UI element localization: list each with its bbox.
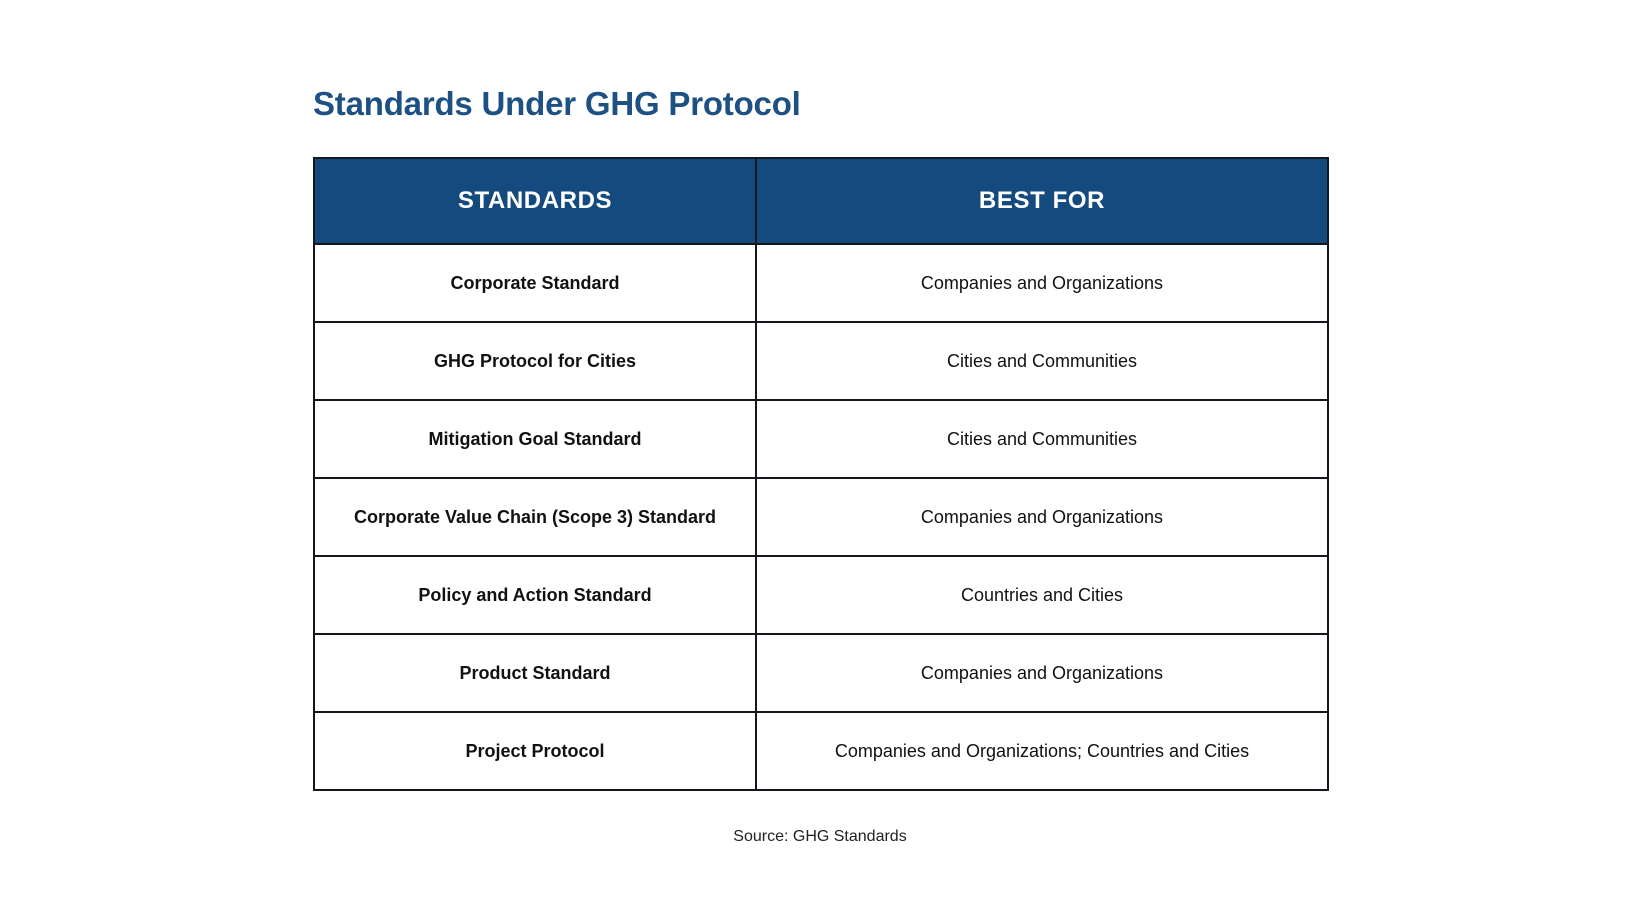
column-header-best-for: BEST FOR <box>756 158 1328 244</box>
cell-best-for: Cities and Communities <box>756 322 1328 400</box>
cell-standard: Corporate Standard <box>314 244 756 322</box>
cell-standard: Corporate Value Chain (Scope 3) Standard <box>314 478 756 556</box>
column-header-standards: STANDARDS <box>314 158 756 244</box>
table-row: Project ProtocolCompanies and Organizati… <box>314 712 1328 790</box>
cell-standard: Mitigation Goal Standard <box>314 400 756 478</box>
table-row: GHG Protocol for CitiesCities and Commun… <box>314 322 1328 400</box>
standards-table: STANDARDS BEST FOR Corporate StandardCom… <box>313 157 1329 791</box>
standards-table-container: STANDARDS BEST FOR Corporate StandardCom… <box>313 157 1327 791</box>
cell-best-for: Companies and Organizations <box>756 244 1328 322</box>
table-row: Mitigation Goal StandardCities and Commu… <box>314 400 1328 478</box>
source-note: Source: GHG Standards <box>313 828 1327 846</box>
table-row: Policy and Action StandardCountries and … <box>314 556 1328 634</box>
table-row: Corporate StandardCompanies and Organiza… <box>314 244 1328 322</box>
cell-best-for: Cities and Communities <box>756 400 1328 478</box>
cell-best-for: Companies and Organizations; Countries a… <box>756 712 1328 790</box>
table-row: Corporate Value Chain (Scope 3) Standard… <box>314 478 1328 556</box>
cell-best-for: Companies and Organizations <box>756 478 1328 556</box>
cell-standard: Project Protocol <box>314 712 756 790</box>
table-header: STANDARDS BEST FOR <box>314 158 1328 244</box>
cell-best-for: Companies and Organizations <box>756 634 1328 712</box>
table-header-row: STANDARDS BEST FOR <box>314 158 1328 244</box>
table-body: Corporate StandardCompanies and Organiza… <box>314 244 1328 790</box>
page-title: Standards Under GHG Protocol <box>313 85 801 123</box>
cell-standard: GHG Protocol for Cities <box>314 322 756 400</box>
cell-standard: Policy and Action Standard <box>314 556 756 634</box>
cell-standard: Product Standard <box>314 634 756 712</box>
table-row: Product StandardCompanies and Organizati… <box>314 634 1328 712</box>
page-root: Standards Under GHG Protocol STANDARDS B… <box>0 0 1640 924</box>
cell-best-for: Countries and Cities <box>756 556 1328 634</box>
